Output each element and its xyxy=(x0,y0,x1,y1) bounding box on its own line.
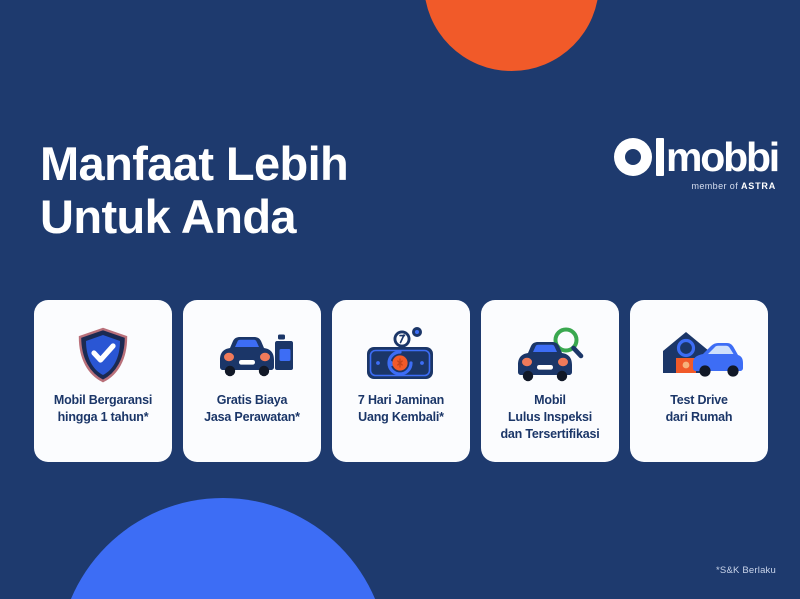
logo-tagline: member of ASTRA xyxy=(614,181,778,191)
car-oil-can-icon xyxy=(211,324,293,386)
benefit-card-label: Gratis Biaya Jasa Perawatan* xyxy=(198,392,306,426)
shield-check-icon xyxy=(75,324,131,386)
logo-tagline-brand: ASTRA xyxy=(741,181,776,191)
benefit-card-free-service[interactable]: Gratis Biaya Jasa Perawatan* xyxy=(183,300,321,462)
terms-footnote: *S&K Berlaku xyxy=(716,565,776,576)
money-back-icon xyxy=(359,324,443,386)
car-inspection-icon xyxy=(511,324,589,386)
logo-o-icon xyxy=(614,138,652,176)
benefit-card-label: Mobil Bergaransi hingga 1 tahun* xyxy=(48,392,158,426)
benefit-card-money-back[interactable]: 7 Hari Jaminan Uang Kembali* xyxy=(332,300,470,462)
benefit-card-label: Mobil Lulus Inspeksi dan Tersertifikasi xyxy=(495,392,606,443)
benefits-card-row: Mobil Bergaransi hingga 1 tahun* xyxy=(34,300,768,462)
logo-text: mobbi xyxy=(666,138,778,176)
benefit-card-warranty[interactable]: Mobil Bergaransi hingga 1 tahun* xyxy=(34,300,172,462)
benefit-card-test-drive[interactable]: Test Drive dari Rumah xyxy=(630,300,768,462)
blue-circle-decoration xyxy=(58,498,388,599)
brand-logo: mobbi member of ASTRA xyxy=(614,136,778,191)
logo-wordmark: mobbi xyxy=(614,136,778,178)
benefit-card-label: 7 Hari Jaminan Uang Kembali* xyxy=(352,392,450,426)
promo-banner: Manfaat Lebih Untuk Anda mobbi member of… xyxy=(0,0,800,599)
page-title: Manfaat Lebih Untuk Anda xyxy=(40,137,348,243)
home-test-drive-icon xyxy=(653,324,745,386)
logo-l-icon xyxy=(656,138,664,176)
benefit-card-inspection[interactable]: Mobil Lulus Inspeksi dan Tersertifikasi xyxy=(481,300,619,462)
benefit-card-label: Test Drive dari Rumah xyxy=(660,392,739,426)
orange-circle-decoration xyxy=(424,0,599,71)
logo-tagline-prefix: member of xyxy=(691,181,741,191)
